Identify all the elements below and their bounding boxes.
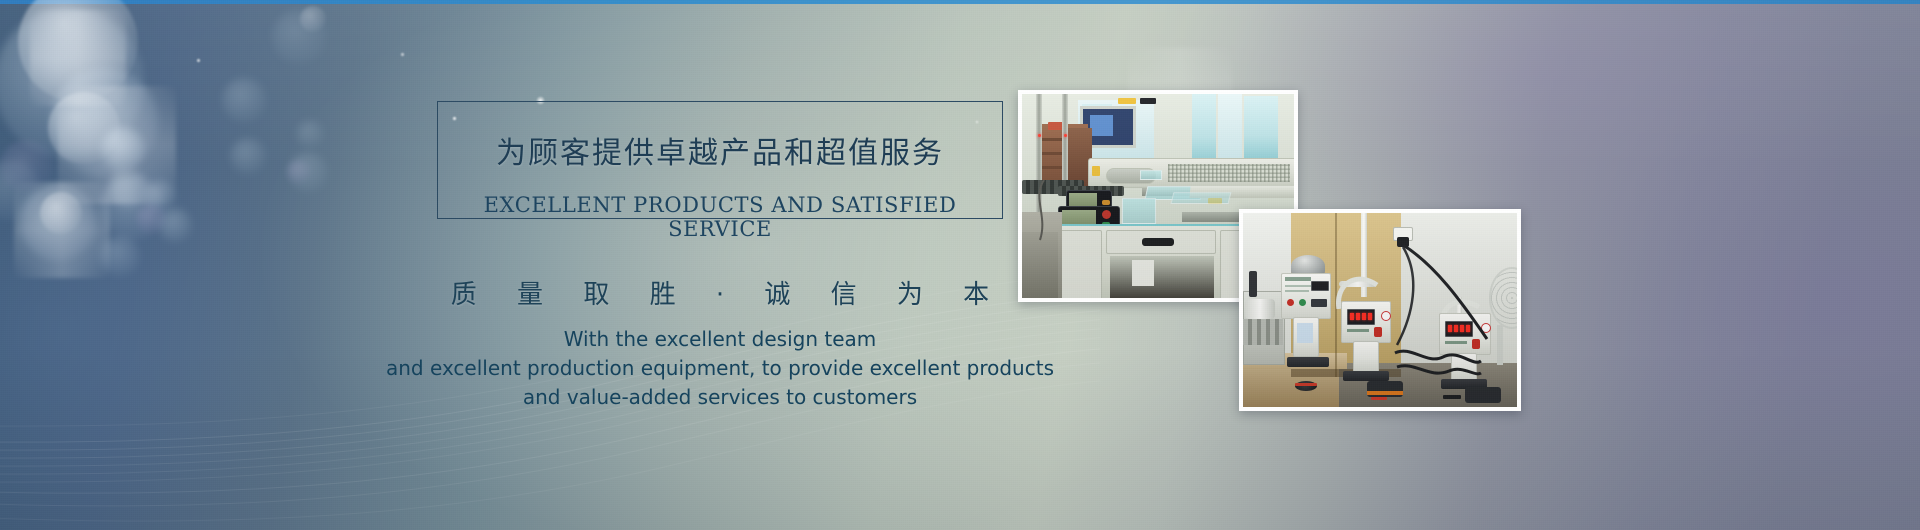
description-line-1: With the excellent design team bbox=[330, 325, 1110, 354]
press-machines-photo[interactable] bbox=[1239, 209, 1521, 411]
headline-english: EXCELLENT PRODUCTS AND SATISFIED SERVICE bbox=[437, 193, 1003, 241]
headline-chinese: 为顾客提供卓越产品和超值服务 bbox=[437, 128, 1003, 172]
description-line-2: and excellent production equipment, to p… bbox=[330, 354, 1110, 383]
company-slogan-banner: 为顾客提供卓越产品和超值服务 EXCELLENT PRODUCTS AND SA… bbox=[0, 0, 1920, 530]
description-line-3: and value-added services to customers bbox=[330, 383, 1110, 412]
company-motto: 质 量 取 胜 · 诚 信 为 本 bbox=[400, 274, 1040, 311]
background-color-bloom bbox=[0, 0, 1920, 530]
description-paragraph: With the excellent design team and excel… bbox=[330, 325, 1110, 412]
top-accent-rule bbox=[0, 0, 1920, 4]
